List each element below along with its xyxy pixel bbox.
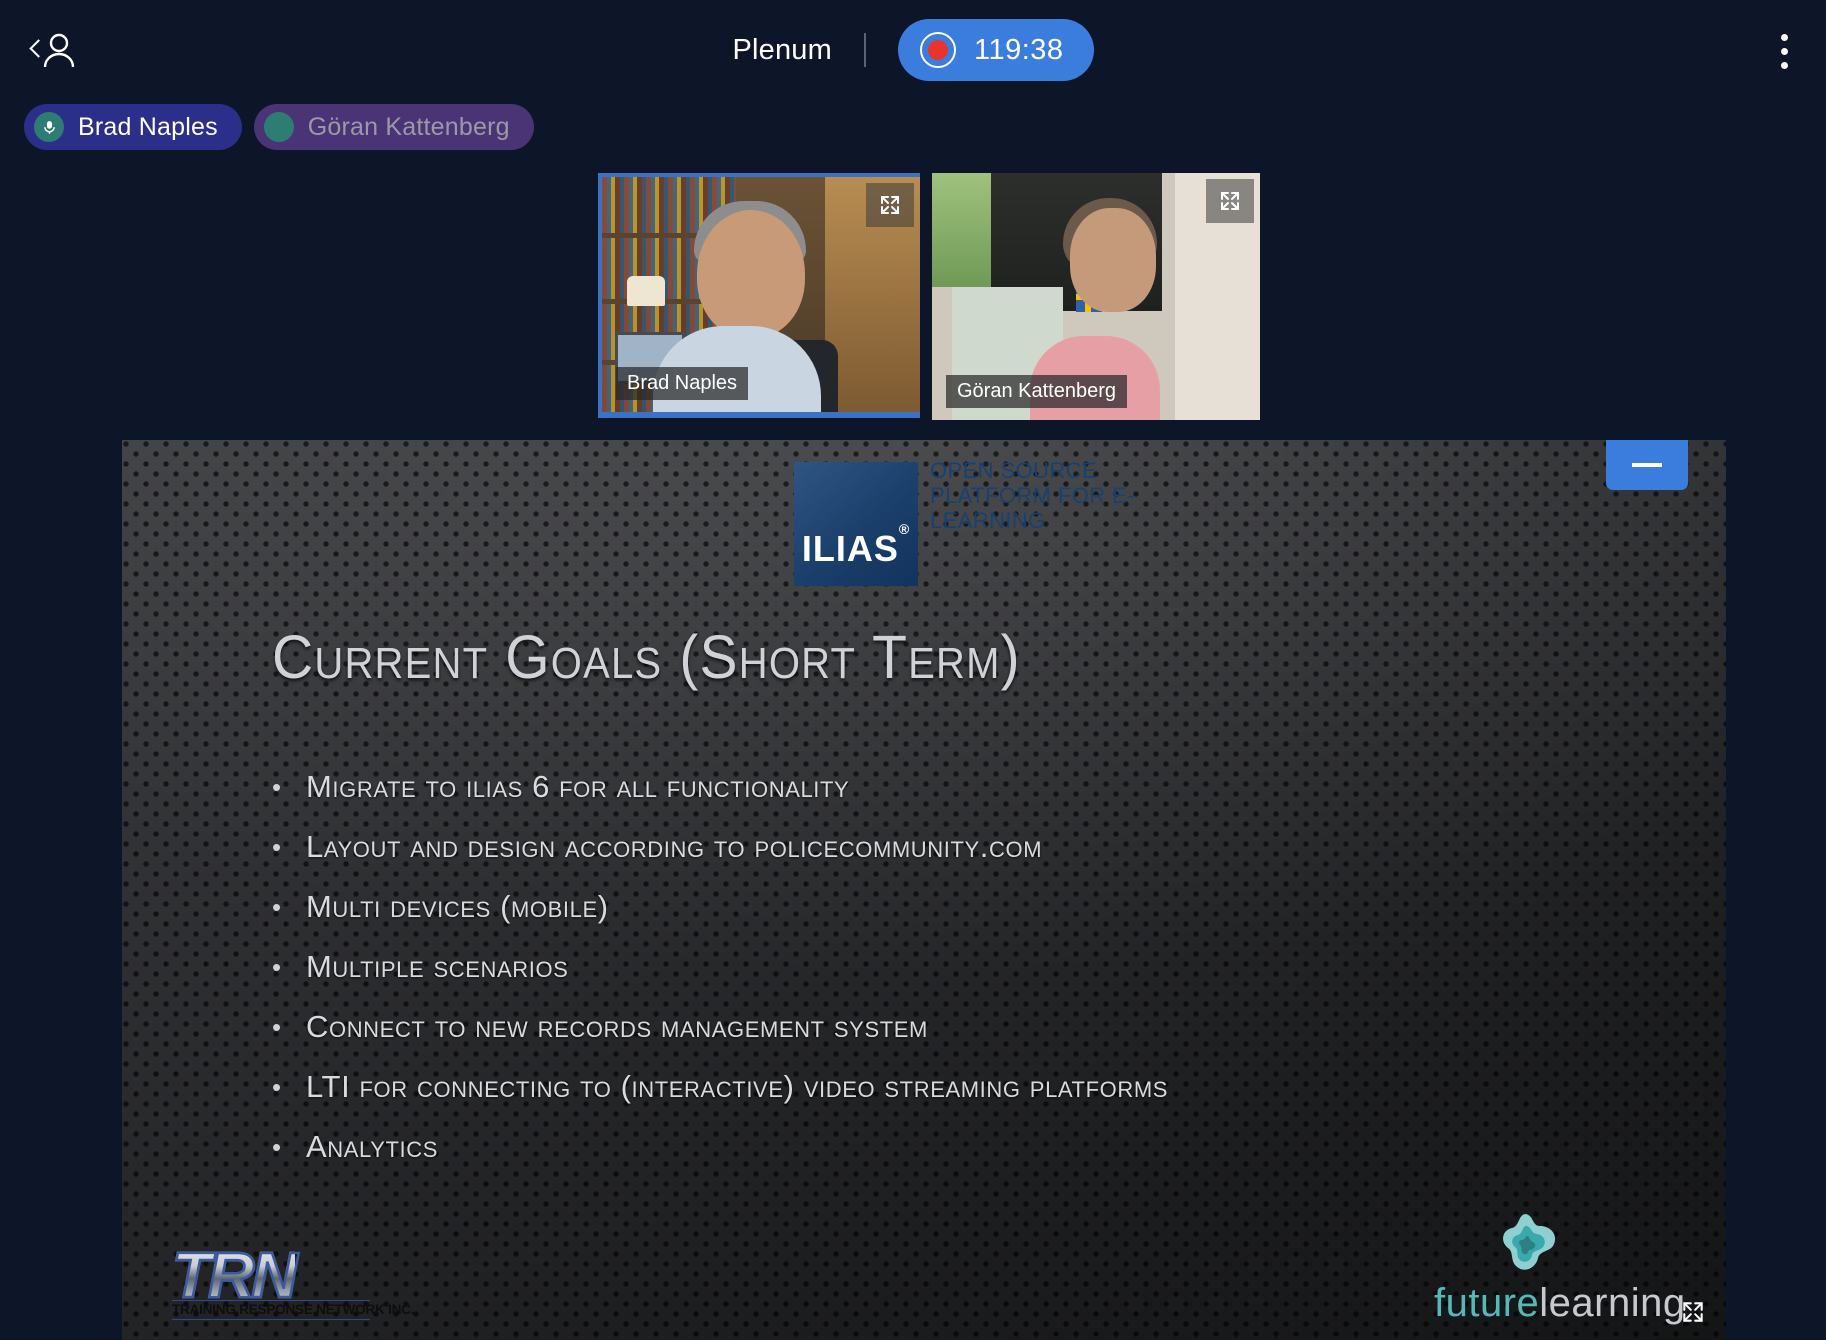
trn-logo: TRN TRAINING RESPONSE NETWORK INC. (172, 1234, 372, 1334)
futurelearning-wordmark: futurelearning (1434, 1281, 1686, 1326)
avatar-circle-icon (264, 112, 294, 142)
trn-logo-subtitle: TRAINING RESPONSE NETWORK INC. (172, 1300, 370, 1320)
bullet-marker: • (272, 1070, 284, 1104)
participant-name: Göran Kattenberg (308, 113, 510, 142)
slide-fullscreen-button[interactable] (1670, 1290, 1716, 1334)
bullet-text: Analytics (306, 1130, 438, 1164)
bullet-marker: • (272, 1130, 284, 1164)
list-item: • Multiple scenarios (272, 950, 1572, 984)
participant-badge-goran-kattenberg[interactable]: Göran Kattenberg (254, 104, 534, 150)
top-bar: Plenum 119:38 (0, 0, 1826, 100)
microphone-icon (34, 112, 64, 142)
bullet-text: LTI for connecting to (interactive) vide… (306, 1070, 1168, 1104)
bullet-marker: • (272, 1010, 284, 1044)
futurelearning-part-b: learning (1539, 1281, 1685, 1325)
registered-mark: ® (899, 521, 910, 537)
bullet-text: Layout and design according to policecom… (306, 830, 1042, 864)
expand-arrows-icon[interactable] (866, 183, 914, 227)
video-feed: Göran Kattenberg (932, 173, 1260, 420)
bullet-text: Multiple scenarios (306, 950, 568, 984)
shared-screen-slide[interactable]: ILIAS® OPEN SOURCE PLATFORM FOR E-LEARNI… (122, 440, 1726, 1340)
bullet-marker: • (272, 890, 284, 924)
expand-arrows-icon[interactable] (1206, 179, 1254, 223)
ilias-brand-header: ILIAS® OPEN SOURCE PLATFORM FOR E-LEARNI… (684, 454, 1164, 590)
minimize-button[interactable] (1606, 440, 1688, 490)
list-item: • Analytics (272, 1130, 1572, 1164)
video-tile-goran-kattenberg[interactable]: Göran Kattenberg (932, 173, 1260, 420)
list-item: • Migrate to ilias 6 for all functionali… (272, 770, 1572, 804)
divider (864, 33, 866, 67)
slide-bullet-list: • Migrate to ilias 6 for all functionali… (272, 770, 1572, 1190)
list-item: • Connect to new records management syst… (272, 1010, 1572, 1044)
page-title: Plenum (732, 34, 832, 67)
ilias-logo: ILIAS® (794, 462, 918, 586)
record-dot-icon (920, 32, 956, 68)
video-tile-brad-naples[interactable]: Brad Naples (598, 173, 920, 418)
ilias-tagline: OPEN SOURCE PLATFORM FOR E-LEARNING (930, 458, 1170, 533)
blob-star-icon (1496, 1212, 1564, 1274)
list-item: • Layout and design according to policec… (272, 830, 1572, 864)
recording-timer-button[interactable]: 119:38 (898, 19, 1094, 81)
participant-badges: Brad Naples Göran Kattenberg (24, 104, 534, 150)
slide-title: Current Goals (Short Term) (272, 622, 1021, 693)
minimize-icon (1632, 463, 1662, 467)
participant-badge-brad-naples[interactable]: Brad Naples (24, 104, 242, 150)
tile-name-label: Göran Kattenberg (946, 375, 1127, 408)
bullet-marker: • (272, 830, 284, 864)
bullet-text: Multi devices (mobile) (306, 890, 609, 924)
futurelearning-part-a: future (1434, 1281, 1539, 1325)
bullet-marker: • (272, 950, 284, 984)
kebab-menu-icon[interactable] (1764, 28, 1804, 74)
bullet-text: Connect to new records management system (306, 1010, 928, 1044)
participant-name: Brad Naples (78, 113, 218, 142)
tile-name-label: Brad Naples (616, 367, 748, 400)
video-tile-strip: Brad Naples Göran Kattenberg (598, 173, 1260, 420)
futurelearning-logo: futurelearning (1434, 1212, 1664, 1332)
ilias-logo-text: ILIAS (802, 528, 899, 569)
recording-time: 119:38 (974, 34, 1064, 67)
video-feed: Brad Naples (602, 177, 920, 412)
meeting-header: Plenum 119:38 (0, 0, 1826, 100)
list-item: • LTI for connecting to (interactive) vi… (272, 1070, 1572, 1104)
bullet-text: Migrate to ilias 6 for all functionality (306, 770, 849, 804)
list-item: • Multi devices (mobile) (272, 890, 1572, 924)
bullet-marker: • (272, 770, 284, 804)
